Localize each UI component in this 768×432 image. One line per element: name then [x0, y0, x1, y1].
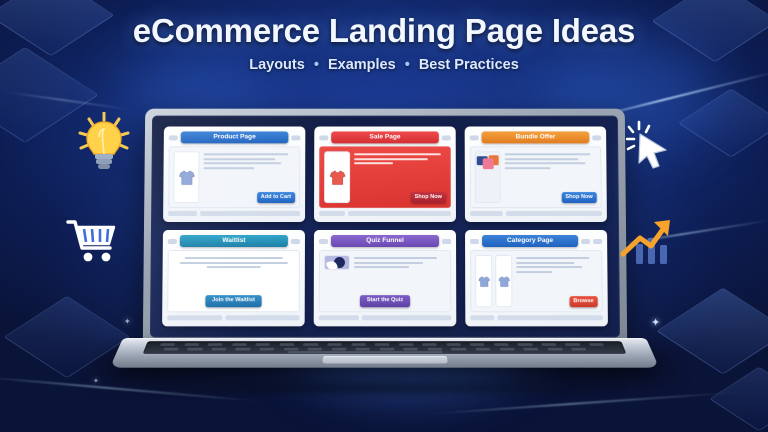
card-body: Add to Cart [168, 146, 300, 208]
topbar-chip [291, 238, 300, 243]
card-body: Browse [470, 250, 603, 312]
bundle-thumbnail [475, 151, 501, 203]
subtitle-separator-1: • [309, 57, 324, 73]
card-footer [167, 315, 300, 320]
product-thumbnail [475, 255, 492, 307]
card-cta-button[interactable]: Start the Quiz [360, 296, 411, 308]
growth-chart-icon [620, 214, 678, 271]
page-subtitle: Layouts • Examples • Best Practices [0, 57, 768, 73]
topbar-chip [169, 135, 178, 140]
product-thumbnail [173, 151, 199, 203]
card-badge: Quiz Funnel [331, 235, 439, 247]
card-body: Shop Now [319, 146, 451, 208]
product-thumbnail [324, 151, 350, 203]
card-cta-button[interactable]: Browse [569, 297, 597, 308]
card-sale-page[interactable]: Sale Page S [314, 127, 456, 222]
card-cta-button[interactable]: Join the Waitlist [205, 296, 262, 308]
text-lines [354, 255, 446, 270]
poster-headings: eCommerce Landing Page Ideas Layouts • E… [0, 12, 768, 73]
card-badge: Product Page [181, 132, 289, 143]
click-cursor-icon [626, 120, 672, 177]
product-thumbnail [495, 255, 512, 307]
laptop-shadow [133, 380, 636, 396]
card-body: Join the Waitlist [167, 250, 300, 312]
card-badge: Bundle Offer [482, 132, 590, 143]
card-quiz-funnel[interactable]: Quiz Funnel [314, 230, 457, 326]
text-lines: Shop Now [505, 151, 597, 203]
laptop-keyboard [143, 341, 627, 354]
card-cta-button[interactable]: Add to Cart [257, 192, 295, 203]
text-lines: Browse [516, 255, 598, 307]
card-footer [470, 315, 603, 320]
card-bundle-offer[interactable]: Bundle Offer [465, 127, 607, 222]
card-badge: Waitlist [180, 235, 288, 247]
subtitle-part-1: Layouts [249, 57, 305, 73]
card-body: Shop Now [470, 146, 602, 208]
card-body: Start the Quiz [319, 250, 451, 312]
card-topbar: Waitlist [168, 235, 300, 247]
tshirt-icon [478, 276, 490, 287]
lightbulb-icon [78, 112, 130, 177]
laptop-lid: Product Page [143, 109, 627, 347]
card-topbar: Category Page [470, 235, 602, 247]
landing-page-card-grid: Product Page [162, 127, 608, 327]
tshirt-icon [329, 170, 346, 185]
text-lines [172, 255, 294, 292]
topbar-chip [592, 135, 601, 140]
card-badge: Sale Page [331, 132, 439, 143]
card-topbar: Sale Page [319, 131, 451, 143]
card-product-page[interactable]: Product Page [163, 127, 305, 222]
subtitle-separator-2: • [400, 57, 415, 73]
card-category-page[interactable]: Category Page [465, 230, 608, 326]
laptop-trackpad [322, 356, 447, 364]
card-cta-button[interactable]: Shop Now [561, 192, 596, 203]
card-badge: Category Page [482, 235, 578, 247]
topbar-chip [470, 238, 479, 243]
card-topbar: Product Page [169, 131, 301, 143]
topbar-chip [593, 238, 602, 243]
card-footer [319, 211, 451, 216]
card-footer [168, 211, 300, 216]
card-footer [319, 315, 452, 320]
card-topbar: Bundle Offer [470, 131, 602, 143]
tshirt-icon [178, 170, 195, 185]
page-title: eCommerce Landing Page Ideas [0, 12, 768, 50]
card-topbar: Quiz Funnel [319, 235, 451, 247]
subtitle-part-3: Best Practices [419, 57, 519, 73]
quiz-thumbnail [324, 255, 350, 270]
subtitle-part-2: Examples [328, 57, 396, 73]
topbar-chip [442, 135, 451, 140]
text-lines: Shop Now [354, 151, 446, 203]
topbar-chip [442, 238, 451, 243]
poster-canvas: ✦ ✦ ✦ ✦ ✦ eCommerce Landing Page Ideas L… [0, 0, 768, 432]
card-waitlist[interactable]: Waitlist Join the Waitlist [162, 230, 305, 326]
topbar-chip [168, 238, 177, 243]
card-cta-button[interactable]: Shop Now [411, 192, 446, 203]
card-footer [470, 211, 602, 216]
text-lines: Add to Cart [203, 151, 295, 203]
laptop-illustration: Product Page [123, 108, 646, 393]
shopping-cart-icon [66, 218, 118, 269]
tshirt-icon [498, 276, 510, 287]
laptop-screen: Product Page [150, 116, 620, 338]
topbar-chip [581, 238, 590, 243]
topbar-chip [470, 135, 479, 140]
topbar-chip [319, 135, 328, 140]
laptop-base [110, 338, 659, 368]
topbar-chip [319, 238, 328, 243]
topbar-chip [291, 135, 300, 140]
